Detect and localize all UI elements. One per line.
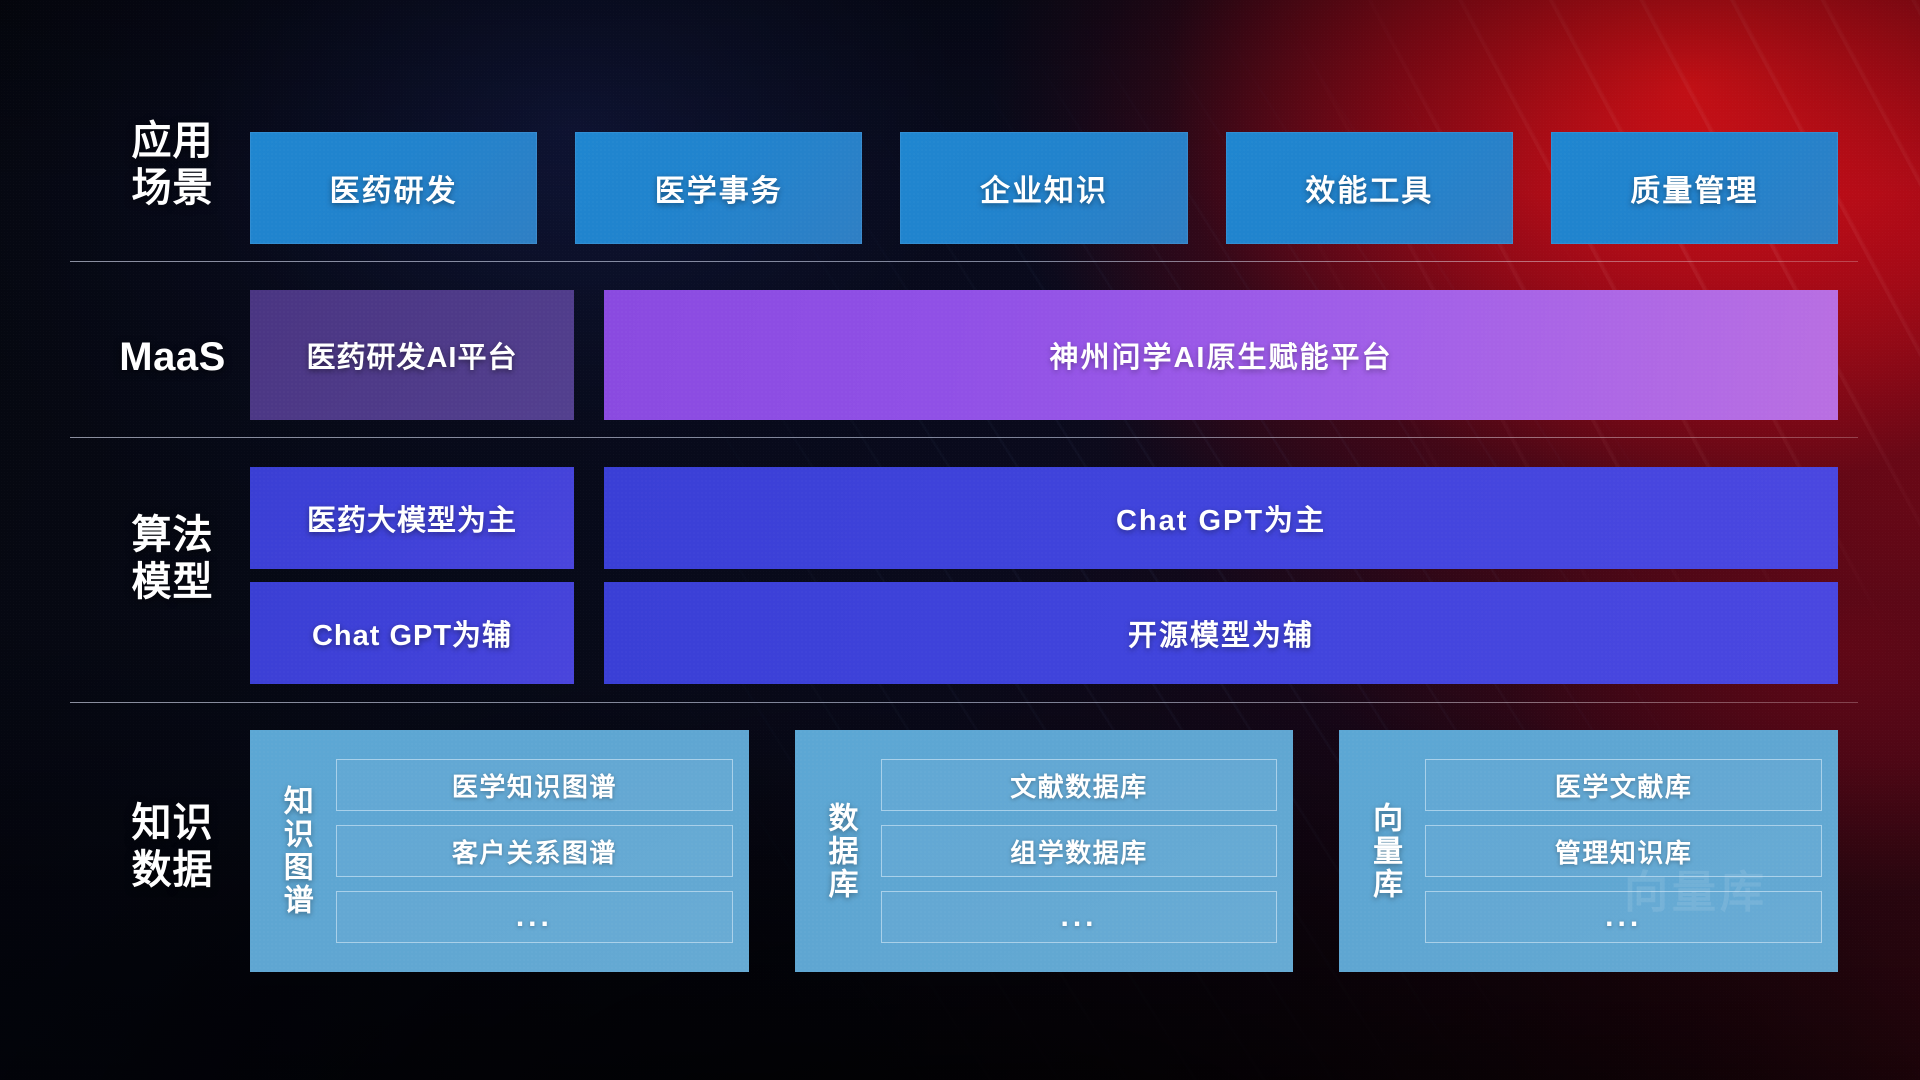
- app-box-label: 效能工具: [1305, 166, 1433, 210]
- knowledge-item-customer-relation-graph[interactable]: 客户关系图谱: [336, 825, 733, 877]
- maas-box-shenzhou-wenxue-platform[interactable]: 神州问学AI原生赋能平台: [604, 290, 1838, 420]
- algorithm-row-primary: 医药大模型为主 Chat GPT为主: [250, 467, 1838, 569]
- divider-after-maas: [70, 437, 1858, 438]
- knowledge-card-title: 数据库: [809, 802, 871, 901]
- knowledge-card-knowledge-graph[interactable]: 知识图谱 医学知识图谱 客户关系图谱 ...: [250, 730, 749, 972]
- algo-box-label: 开源模型为辅: [1128, 612, 1314, 654]
- app-box-label: 医学事务: [655, 166, 783, 210]
- knowledge-item-omics-database[interactable]: 组学数据库: [881, 825, 1278, 877]
- row-label-application-scenarios: 应用 场景: [95, 118, 250, 212]
- app-box-label: 企业知识: [980, 166, 1108, 210]
- knowledge-card-items: 医学知识图谱 客户关系图谱 ...: [336, 759, 733, 943]
- knowledge-card-database[interactable]: 数据库 文献数据库 组学数据库 ...: [795, 730, 1294, 972]
- algo-box-label: 医药大模型为主: [307, 497, 517, 539]
- algo-box-chatgpt-primary[interactable]: Chat GPT为主: [604, 467, 1838, 569]
- app-box-label: 质量管理: [1630, 166, 1758, 210]
- algo-box-chatgpt-secondary[interactable]: Chat GPT为辅: [250, 582, 574, 684]
- knowledge-card-title: 知识图谱: [264, 785, 326, 917]
- knowledge-item-more[interactable]: ...: [881, 891, 1278, 943]
- maas-row: 医药研发AI平台 神州问学AI原生赋能平台: [250, 290, 1838, 420]
- app-box-medicine-rd[interactable]: 医药研发: [250, 132, 537, 244]
- knowledge-item-more[interactable]: ...: [336, 891, 733, 943]
- app-box-medical-affairs[interactable]: 医学事务: [575, 132, 862, 244]
- divider-after-algorithm-model: [70, 702, 1858, 703]
- knowledge-data-row: 知识图谱 医学知识图谱 客户关系图谱 ... 数据库 文献数据库 组学数据库 .…: [250, 730, 1838, 972]
- app-box-efficiency-tools[interactable]: 效能工具: [1226, 132, 1513, 244]
- row-label-knowledge-data: 知识 数据: [95, 800, 250, 894]
- maas-box-label: 医药研发AI平台: [306, 334, 517, 376]
- knowledge-item-management-knowledge-base[interactable]: 管理知识库: [1425, 825, 1822, 877]
- application-scenarios-row: 医药研发 医学事务 企业知识 效能工具 质量管理: [250, 132, 1838, 244]
- algorithm-row-secondary: Chat GPT为辅 开源模型为辅: [250, 582, 1838, 684]
- row-label-maas: MaaS: [95, 334, 250, 381]
- algo-box-label: Chat GPT为主: [1116, 497, 1326, 539]
- knowledge-item-more[interactable]: ...: [1425, 891, 1822, 943]
- app-box-quality-management[interactable]: 质量管理: [1551, 132, 1838, 244]
- knowledge-card-items: 文献数据库 组学数据库 ...: [881, 759, 1278, 943]
- knowledge-item-literature-database[interactable]: 文献数据库: [881, 759, 1278, 811]
- maas-box-label: 神州问学AI原生赋能平台: [1049, 334, 1392, 376]
- knowledge-card-items: 医学文献库 管理知识库 ...: [1425, 759, 1822, 943]
- algo-box-medicine-large-model-primary[interactable]: 医药大模型为主: [250, 467, 574, 569]
- algo-box-opensource-secondary[interactable]: 开源模型为辅: [604, 582, 1838, 684]
- app-box-enterprise-knowledge[interactable]: 企业知识: [900, 132, 1187, 244]
- knowledge-item-medical-literature-library[interactable]: 医学文献库: [1425, 759, 1822, 811]
- algo-box-label: Chat GPT为辅: [312, 612, 512, 654]
- knowledge-card-title: 向量库: [1353, 802, 1415, 901]
- knowledge-item-medical-knowledge-graph[interactable]: 医学知识图谱: [336, 759, 733, 811]
- row-label-algorithm-model: 算法 模型: [95, 512, 250, 606]
- diagram-canvas: 应用 场景 医药研发 医学事务 企业知识 效能工具 质量管理 MaaS 医药研发…: [0, 0, 1920, 1080]
- maas-box-medicine-rd-ai-platform[interactable]: 医药研发AI平台: [250, 290, 574, 420]
- app-box-label: 医药研发: [330, 166, 458, 210]
- divider-after-application-scenarios: [70, 261, 1858, 262]
- knowledge-card-vector-database[interactable]: 向量库 医学文献库 管理知识库 ... 向量库: [1339, 730, 1838, 972]
